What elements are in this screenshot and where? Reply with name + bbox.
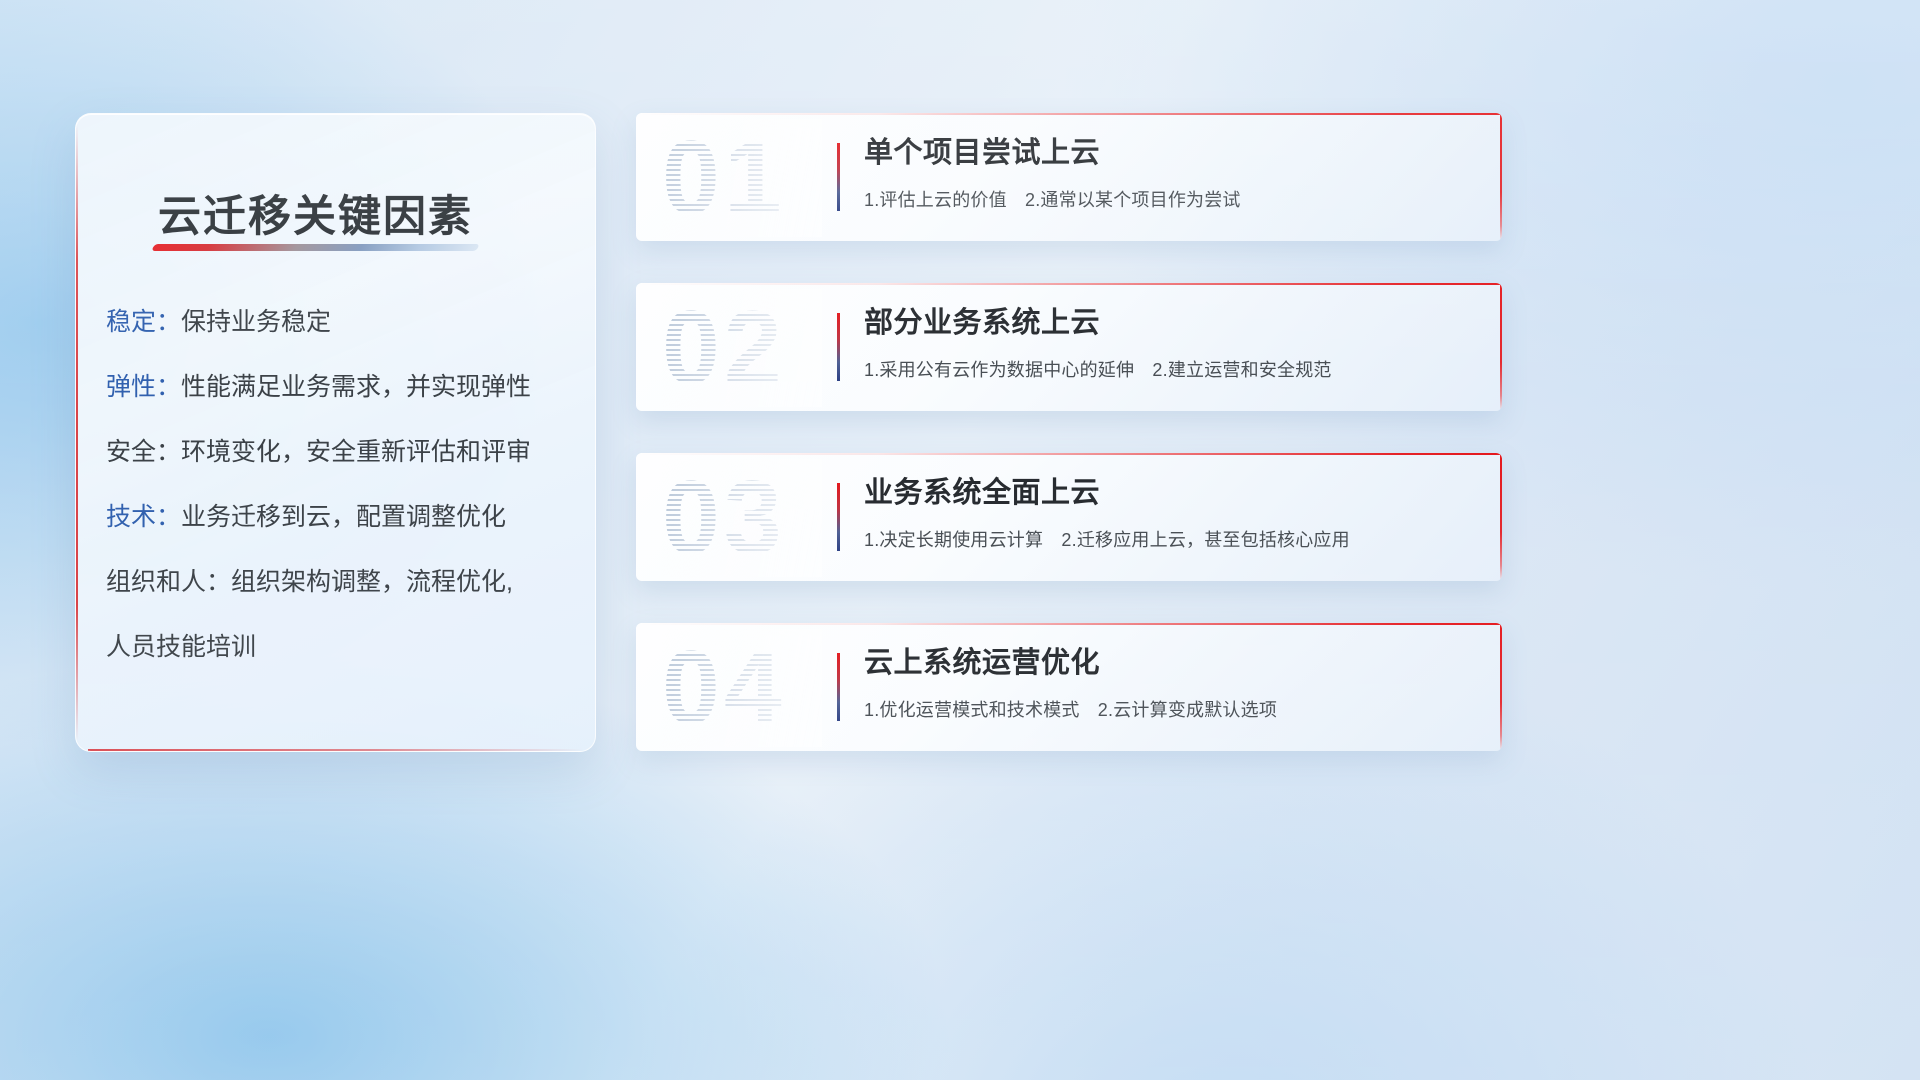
card-points: 1.采用公有云作为数据中心的延伸 2.建立运营和安全规范 — [864, 356, 1478, 382]
card-title: 单个项目尝试上云 — [864, 135, 1478, 171]
card-body: 部分业务系统上云 1.采用公有云作为数据中心的延伸 2.建立运营和安全规范 — [864, 305, 1478, 382]
factor-label: 稳定： — [106, 310, 181, 335]
card-number: 03 — [662, 459, 822, 577]
card-body: 云上系统运营优化 1.优化运营模式和技术模式 2.云计算变成默认选项 — [864, 645, 1478, 722]
factor-item-technology: 技术： 业务迁移到云，配置调整优化 — [106, 505, 575, 530]
card-top-accent-rule — [636, 453, 1502, 455]
factor-item-security: 安全： 环境变化，安全重新评估和评审 — [106, 440, 575, 465]
card-accent-bar — [837, 143, 840, 211]
factor-desc: 性能满足业务需求，并实现弹性 — [181, 375, 531, 400]
card-number: 04 — [662, 629, 822, 747]
factor-list: 稳定： 保持业务稳定 弹性： 性能满足业务需求，并实现弹性 安全： 环境变化，安… — [106, 310, 575, 700]
stage-card-02[interactable]: 02 部分业务系统上云 1.采用公有云作为数据中心的延伸 2.建立运营和安全规范 — [636, 283, 1502, 411]
card-accent-bar — [837, 483, 840, 551]
card-top-accent-rule — [636, 113, 1502, 115]
card-points: 1.评估上云的价值 2.通常以某个项目作为尝试 — [864, 186, 1478, 212]
factor-desc: 环境变化，安全重新评估和评审 — [181, 440, 531, 465]
card-number: 02 — [662, 289, 822, 407]
card-body: 业务系统全面上云 1.决定长期使用云计算 2.迁移应用上云，甚至包括核心应用 — [864, 475, 1478, 552]
factor-item-organization-and-people-continuation: 人员技能培训 — [106, 635, 575, 660]
stage-card-01[interactable]: 01 单个项目尝试上云 1.评估上云的价值 2.通常以某个项目作为尝试 — [636, 113, 1502, 241]
card-top-accent-rule — [636, 283, 1502, 285]
card-title: 业务系统全面上云 — [864, 475, 1478, 511]
card-number: 01 — [662, 119, 822, 237]
card-right-accent-rule — [1500, 623, 1502, 751]
stage-card-list: 01 单个项目尝试上云 1.评估上云的价值 2.通常以某个项目作为尝试 02 部… — [636, 113, 1502, 793]
factor-item-organization-and-people: 组织和人： 组织架构调整，流程优化, — [106, 570, 575, 595]
slide-canvas: 云迁移关键因素 稳定： 保持业务稳定 弹性： 性能满足业务需求，并实现弹性 安全… — [0, 0, 1920, 1080]
stage-card-03[interactable]: 03 业务系统全面上云 1.决定长期使用云计算 2.迁移应用上云，甚至包括核心应… — [636, 453, 1502, 581]
factor-label: 组织和人： — [106, 570, 231, 595]
factor-label: 技术： — [106, 505, 181, 530]
factor-label: 弹性： — [106, 375, 181, 400]
key-factors-panel: 云迁移关键因素 稳定： 保持业务稳定 弹性： 性能满足业务需求，并实现弹性 安全… — [75, 113, 596, 752]
page-title: 云迁移关键因素 — [158, 182, 473, 244]
panel-bottom-accent-edge — [88, 749, 583, 751]
factor-desc: 业务迁移到云，配置调整优化 — [181, 505, 506, 530]
card-accent-bar — [837, 653, 840, 721]
title-underline-rule — [151, 244, 479, 251]
card-top-accent-rule — [636, 623, 1502, 625]
card-right-accent-rule — [1500, 453, 1502, 581]
card-title: 云上系统运营优化 — [864, 645, 1478, 681]
card-title: 部分业务系统上云 — [864, 305, 1478, 341]
card-body: 单个项目尝试上云 1.评估上云的价值 2.通常以某个项目作为尝试 — [864, 135, 1478, 212]
factor-label: 安全： — [106, 440, 181, 465]
panel-left-accent-edge — [76, 124, 78, 741]
card-right-accent-rule — [1500, 113, 1502, 241]
factor-item-stability: 稳定： 保持业务稳定 — [106, 310, 575, 335]
card-points: 1.优化运营模式和技术模式 2.云计算变成默认选项 — [864, 696, 1478, 722]
factor-item-elasticity: 弹性： 性能满足业务需求，并实现弹性 — [106, 375, 575, 400]
card-points: 1.决定长期使用云计算 2.迁移应用上云，甚至包括核心应用 — [864, 526, 1478, 552]
factor-desc: 保持业务稳定 — [181, 310, 331, 335]
stage-card-04[interactable]: 04 云上系统运营优化 1.优化运营模式和技术模式 2.云计算变成默认选项 — [636, 623, 1502, 751]
card-right-accent-rule — [1500, 283, 1502, 411]
card-accent-bar — [837, 313, 840, 381]
factor-desc: 组织架构调整，流程优化, — [231, 570, 513, 595]
